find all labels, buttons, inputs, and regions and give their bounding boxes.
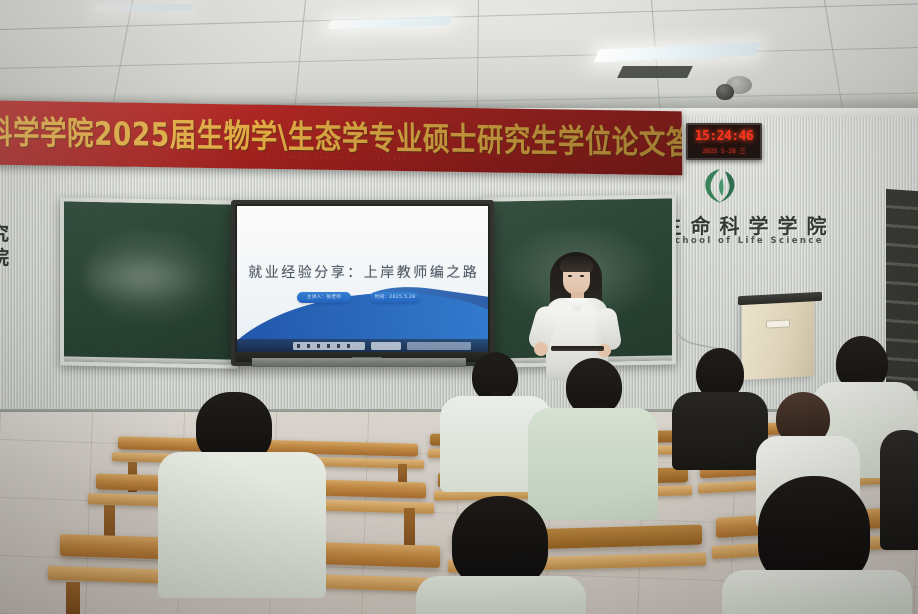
- ppt-icon[interactable]: [327, 344, 330, 348]
- lectern-label: [766, 319, 790, 328]
- ppt-toolbar-group-3[interactable]: [407, 342, 471, 350]
- lecture-hall-photo: 究院 生命科学学院 School of Life Science 科学学院202…: [0, 0, 918, 614]
- presenter-speaker: [524, 250, 632, 380]
- ppt-toolbar[interactable]: [237, 339, 488, 352]
- ceiling: [0, 0, 918, 118]
- ceiling-vent: [617, 66, 693, 78]
- ppt-icon[interactable]: [317, 344, 320, 348]
- audience-torso: [722, 570, 912, 614]
- ceiling-light-3: [95, 4, 193, 11]
- audience-torso: [528, 408, 658, 520]
- presenter-eye-right: [580, 275, 584, 277]
- banner-title: 科学学院2025届生物学\生态学专业硕士研究生学位论文答辩会: [0, 105, 682, 164]
- audience-torso: [158, 452, 326, 598]
- presentation-slide: 就业经验分享：上岸教师编之路 主讲人：张老师 时间：2025.5.28: [237, 206, 488, 352]
- audience-torso: [672, 392, 768, 470]
- slide-pill-presenter: 主讲人：张老师: [297, 292, 351, 303]
- audience-torso: [416, 576, 586, 614]
- school-logo-icon: [694, 166, 746, 206]
- ppt-icon[interactable]: [347, 344, 350, 348]
- slide-pill-date: 时间：2025.5.28: [370, 292, 420, 303]
- bench-leg: [66, 582, 80, 614]
- ppt-toolbar-group-2[interactable]: [371, 342, 401, 350]
- clock-date: 2025 5-28 三: [688, 145, 760, 155]
- presenter-belt: [551, 346, 604, 351]
- window-blind-strip: [886, 189, 918, 391]
- left-wall-sign-partial: 究院: [0, 222, 24, 270]
- audience-torso: [880, 430, 918, 550]
- slide-title: 就业经验分享：上岸教师编之路: [237, 262, 488, 282]
- defense-banner: 科学学院2025届生物学\生态学专业硕士研究生学位论文答辩会 ·· ····· …: [0, 101, 682, 176]
- ppt-icon[interactable]: [307, 344, 310, 348]
- left-chalkboard: [60, 197, 238, 368]
- smart-board-display[interactable]: 就业经验分享：上岸教师编之路 主讲人：张老师 时间：2025.5.28: [231, 200, 494, 366]
- presenter-eye-left: [568, 275, 572, 277]
- audience-hair: [452, 496, 548, 588]
- chalk-tray: [64, 356, 234, 364]
- led-clock: 15:24:46 2025 5-28 三: [686, 123, 762, 160]
- ppt-icon[interactable]: [337, 344, 340, 348]
- ppt-icon[interactable]: [297, 344, 300, 348]
- banner-subtitle: ·· ····· ··· ···· ·· ······: [0, 149, 682, 168]
- chalk-residue-2: [88, 250, 207, 307]
- clock-time: 15:24:46: [688, 129, 760, 144]
- presenter-hair-front: [560, 256, 593, 272]
- smart-board-stand: [252, 358, 466, 367]
